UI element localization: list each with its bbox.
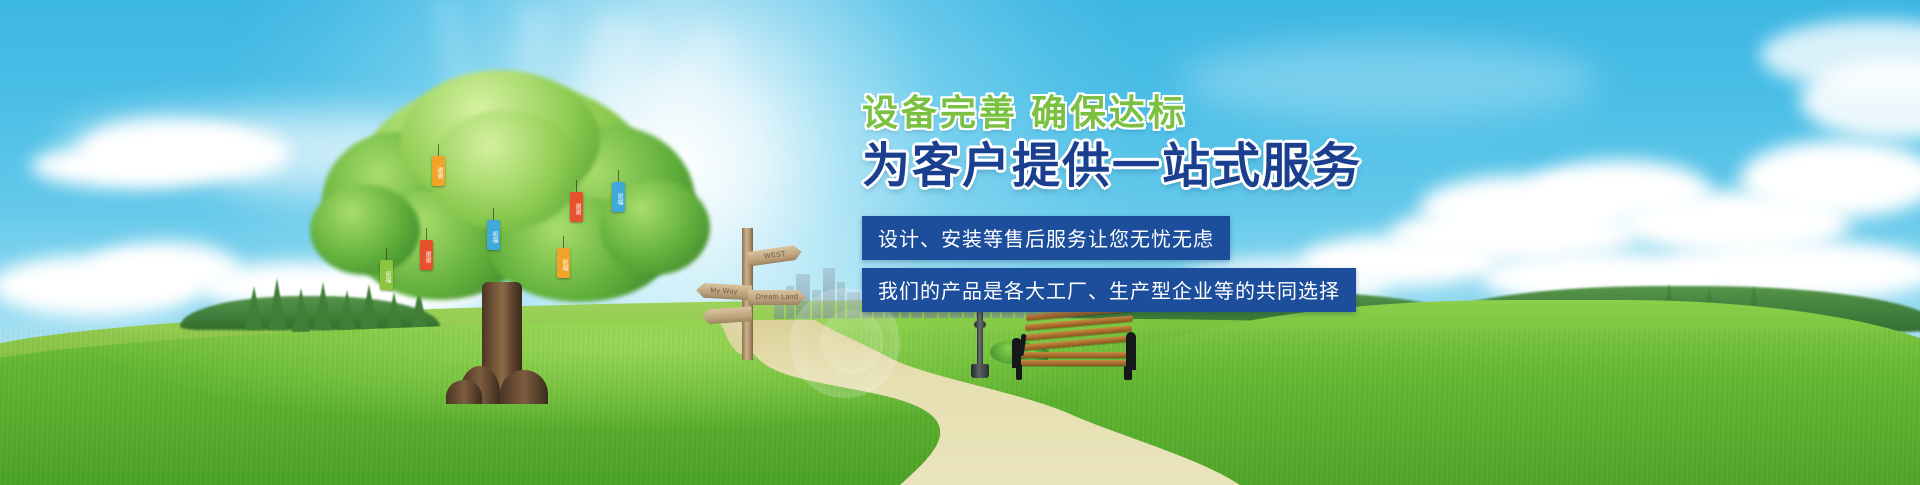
tree-root: [500, 370, 548, 404]
cloud: [1760, 20, 1920, 90]
bench-slat: [1017, 360, 1133, 366]
bench-armrest: [1126, 332, 1136, 370]
wish-tag: 谢谢: [420, 240, 433, 270]
subbar-service: 设计、安装等售后服务让您无忧无虑: [862, 216, 1230, 260]
hero-banner: 祝福 谢谢 祝福 谢谢 祝福 祝福 谢谢 WEST My Way Dream L…: [0, 0, 1920, 485]
signpost-arm-dream: Dream Land: [748, 290, 806, 305]
wish-tag: 祝福: [557, 248, 570, 278]
wish-tag: 祝福: [380, 260, 393, 290]
wooden-signpost: WEST My Way Dream Land: [690, 228, 810, 360]
bench-leg: [1124, 366, 1132, 380]
subbar-row-2: 我们的产品是各大工厂、生产型企业等的共同选择: [862, 268, 1482, 312]
headline-primary: 设备完善 确保达标: [862, 90, 1482, 136]
wish-tree: 祝福 谢谢 祝福 谢谢 祝福 祝福 谢谢: [300, 70, 720, 400]
conifer-tree: [245, 286, 263, 330]
banner-copy: 设备完善 确保达标 为客户提供一站式服务 设计、安装等售后服务让您无忧无虑 我们…: [862, 90, 1482, 312]
bench-slat: [1018, 352, 1132, 358]
bench-leg: [1016, 364, 1022, 380]
park-bench: [1012, 308, 1137, 380]
conifer-tree: [268, 278, 286, 330]
tree-canopy: [310, 185, 420, 275]
wish-tag: 谢谢: [432, 156, 445, 186]
lamp-knob: [974, 320, 986, 329]
lamp-base: [971, 364, 989, 378]
headline-secondary: 为客户提供一站式服务: [862, 138, 1482, 196]
wish-tag: 谢谢: [570, 192, 583, 222]
subbar-row-1: 设计、安装等售后服务让您无忧无虑: [862, 216, 1482, 260]
lens-flare-bubble: [820, 310, 884, 374]
wish-tag: 祝福: [487, 220, 500, 250]
cloud: [170, 128, 290, 178]
wish-tag: 祝福: [612, 182, 625, 212]
signpost-arm-west: WEST: [747, 244, 803, 266]
tree-canopy: [430, 110, 580, 230]
signpost-arm-myway: My Way: [696, 283, 753, 301]
subbar-customers: 我们的产品是各大工厂、生产型企业等的共同选择: [862, 268, 1356, 312]
